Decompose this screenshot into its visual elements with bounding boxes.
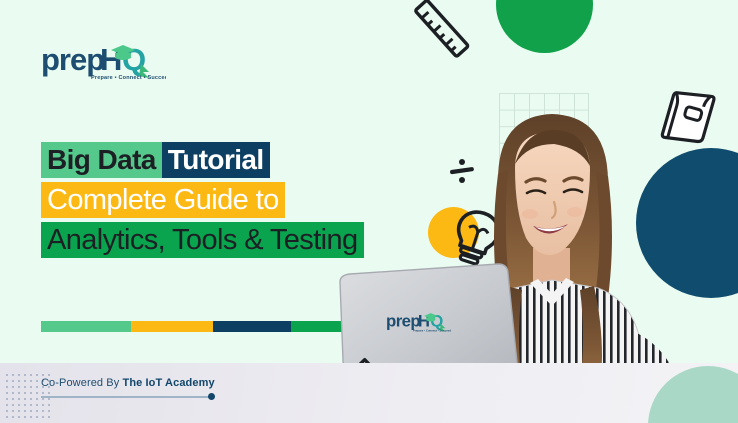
footer-band: [0, 363, 738, 423]
bar-segment-amber: [131, 321, 213, 332]
co-powered-prefix: Co-Powered By: [41, 377, 123, 389]
logo-tagline: Prepare • Connect • Succeed: [91, 75, 166, 81]
co-powered-text: Co-Powered By The IoT Academy: [41, 377, 215, 389]
headline-line-2: Complete Guide to: [41, 182, 364, 218]
footer-rule: [41, 396, 213, 398]
prephq-logo: prep H Q Prepare • Connect • Succeed: [41, 36, 166, 84]
banner-graphic: prep H Q Prepare • Connect • Succeed Big…: [0, 0, 738, 423]
svg-text:prep: prep: [386, 312, 420, 331]
footer-rule-dot: [208, 393, 215, 400]
headline-big-data: Big Data: [41, 142, 162, 178]
headline-complete-guide: Complete Guide to: [41, 182, 285, 218]
headline-line-1: Big Data Tutorial: [41, 142, 364, 178]
laptop-logo: prep H Q Prepare • Connect • Succeed: [386, 312, 451, 333]
headline-line-3: Analytics, Tools & Testing: [41, 222, 364, 258]
color-accent-bar: [41, 321, 364, 332]
partner-name: The IoT Academy: [123, 377, 215, 389]
headline-block: Big Data Tutorial Complete Guide to Anal…: [41, 142, 364, 262]
headline-analytics-tools: Analytics, Tools & Testing: [41, 222, 364, 258]
svg-text:Prepare • Connect • Succeed: Prepare • Connect • Succeed: [413, 329, 451, 333]
ruler-icon: [406, 0, 476, 69]
headline-tutorial: Tutorial: [162, 142, 270, 178]
bar-segment-navy: [213, 321, 291, 332]
bar-segment-mint: [41, 321, 131, 332]
green-circle-decoration: [496, 0, 593, 53]
svg-text:prep: prep: [41, 42, 104, 77]
